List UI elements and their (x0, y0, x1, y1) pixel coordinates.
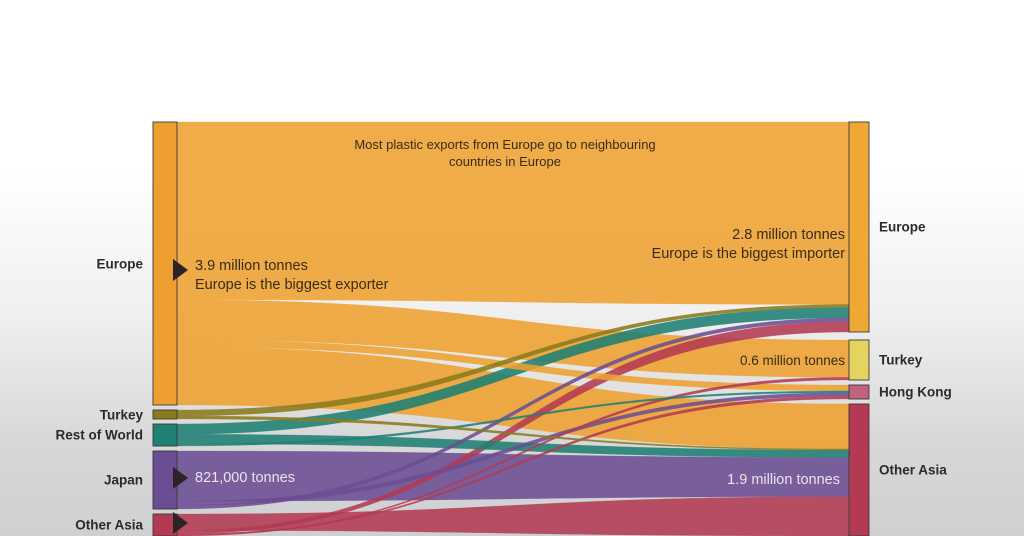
target-node-turkey (849, 340, 869, 380)
sankey-diagram (0, 0, 1024, 536)
annotation-arrow-icon (173, 259, 188, 281)
target-node-hong-kong (849, 385, 869, 399)
target-label-europe: Europe (879, 220, 926, 235)
turkey-importer-note: 0.6 million tonnes (740, 352, 845, 369)
target-node-other-asia (849, 404, 869, 536)
target-label-other-asia: Other Asia (879, 463, 947, 478)
source-node-rest-of-world (153, 424, 177, 446)
japan-exporter-note: 821,000 tonnes (195, 469, 295, 488)
source-label-turkey: Turkey (100, 407, 143, 422)
source-label-japan: Japan (104, 473, 143, 488)
europe-importer-note: 2.8 million tonnes Europe is the biggest… (652, 226, 845, 263)
annotation-arrow-icon (173, 467, 188, 489)
target-label-hong-kong: Hong Kong (879, 385, 952, 400)
europe-to-europe-note: Most plastic exports from Europe go to n… (354, 137, 655, 170)
annotation-arrow-icon (173, 512, 188, 534)
other-asia-importer-note: 1.9 million tonnes (727, 471, 840, 490)
source-label-europe: Europe (96, 256, 143, 271)
target-label-turkey: Turkey (879, 353, 922, 368)
source-node-turkey (153, 410, 177, 419)
source-label-rest-of-world: Rest of World (56, 428, 144, 443)
source-label-other-asia: Other Asia (75, 518, 143, 533)
target-node-europe (849, 122, 869, 332)
europe-exporter-note: 3.9 million tonnes Europe is the biggest… (195, 257, 388, 294)
